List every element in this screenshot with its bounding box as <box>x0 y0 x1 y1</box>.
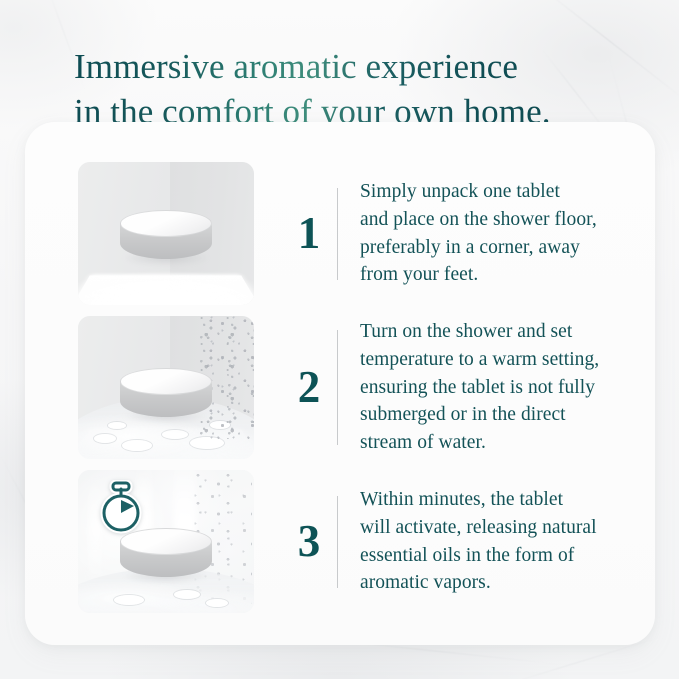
list-item: 2 Turn on the shower and set temperature… <box>78 316 634 459</box>
step-3-number: 3 <box>281 519 337 564</box>
step-divider <box>337 496 338 588</box>
list-item: 3 Within minutes, the tablet will activa… <box>78 470 634 613</box>
step-1-image <box>78 162 254 305</box>
step-1-text: Simply unpack one tablet and place on th… <box>360 178 634 289</box>
step-2-image <box>78 316 254 459</box>
stopwatch-icon <box>96 480 146 534</box>
steps-list: 1 Simply unpack one tablet and place on … <box>78 162 634 613</box>
list-item: 1 Simply unpack one tablet and place on … <box>78 162 634 305</box>
step-1-number: 1 <box>281 211 337 256</box>
step-3-image <box>78 470 254 613</box>
step-2-text: Turn on the shower and set temperature t… <box>360 318 634 456</box>
marble-page-background: Immersive aromatic experience in the com… <box>0 0 679 679</box>
step-2-number: 2 <box>281 365 337 410</box>
instructions-card: 1 Simply unpack one tablet and place on … <box>25 122 655 645</box>
step-divider <box>337 330 338 445</box>
step-divider <box>337 188 338 280</box>
step-3-text: Within minutes, the tablet will activate… <box>360 486 634 597</box>
